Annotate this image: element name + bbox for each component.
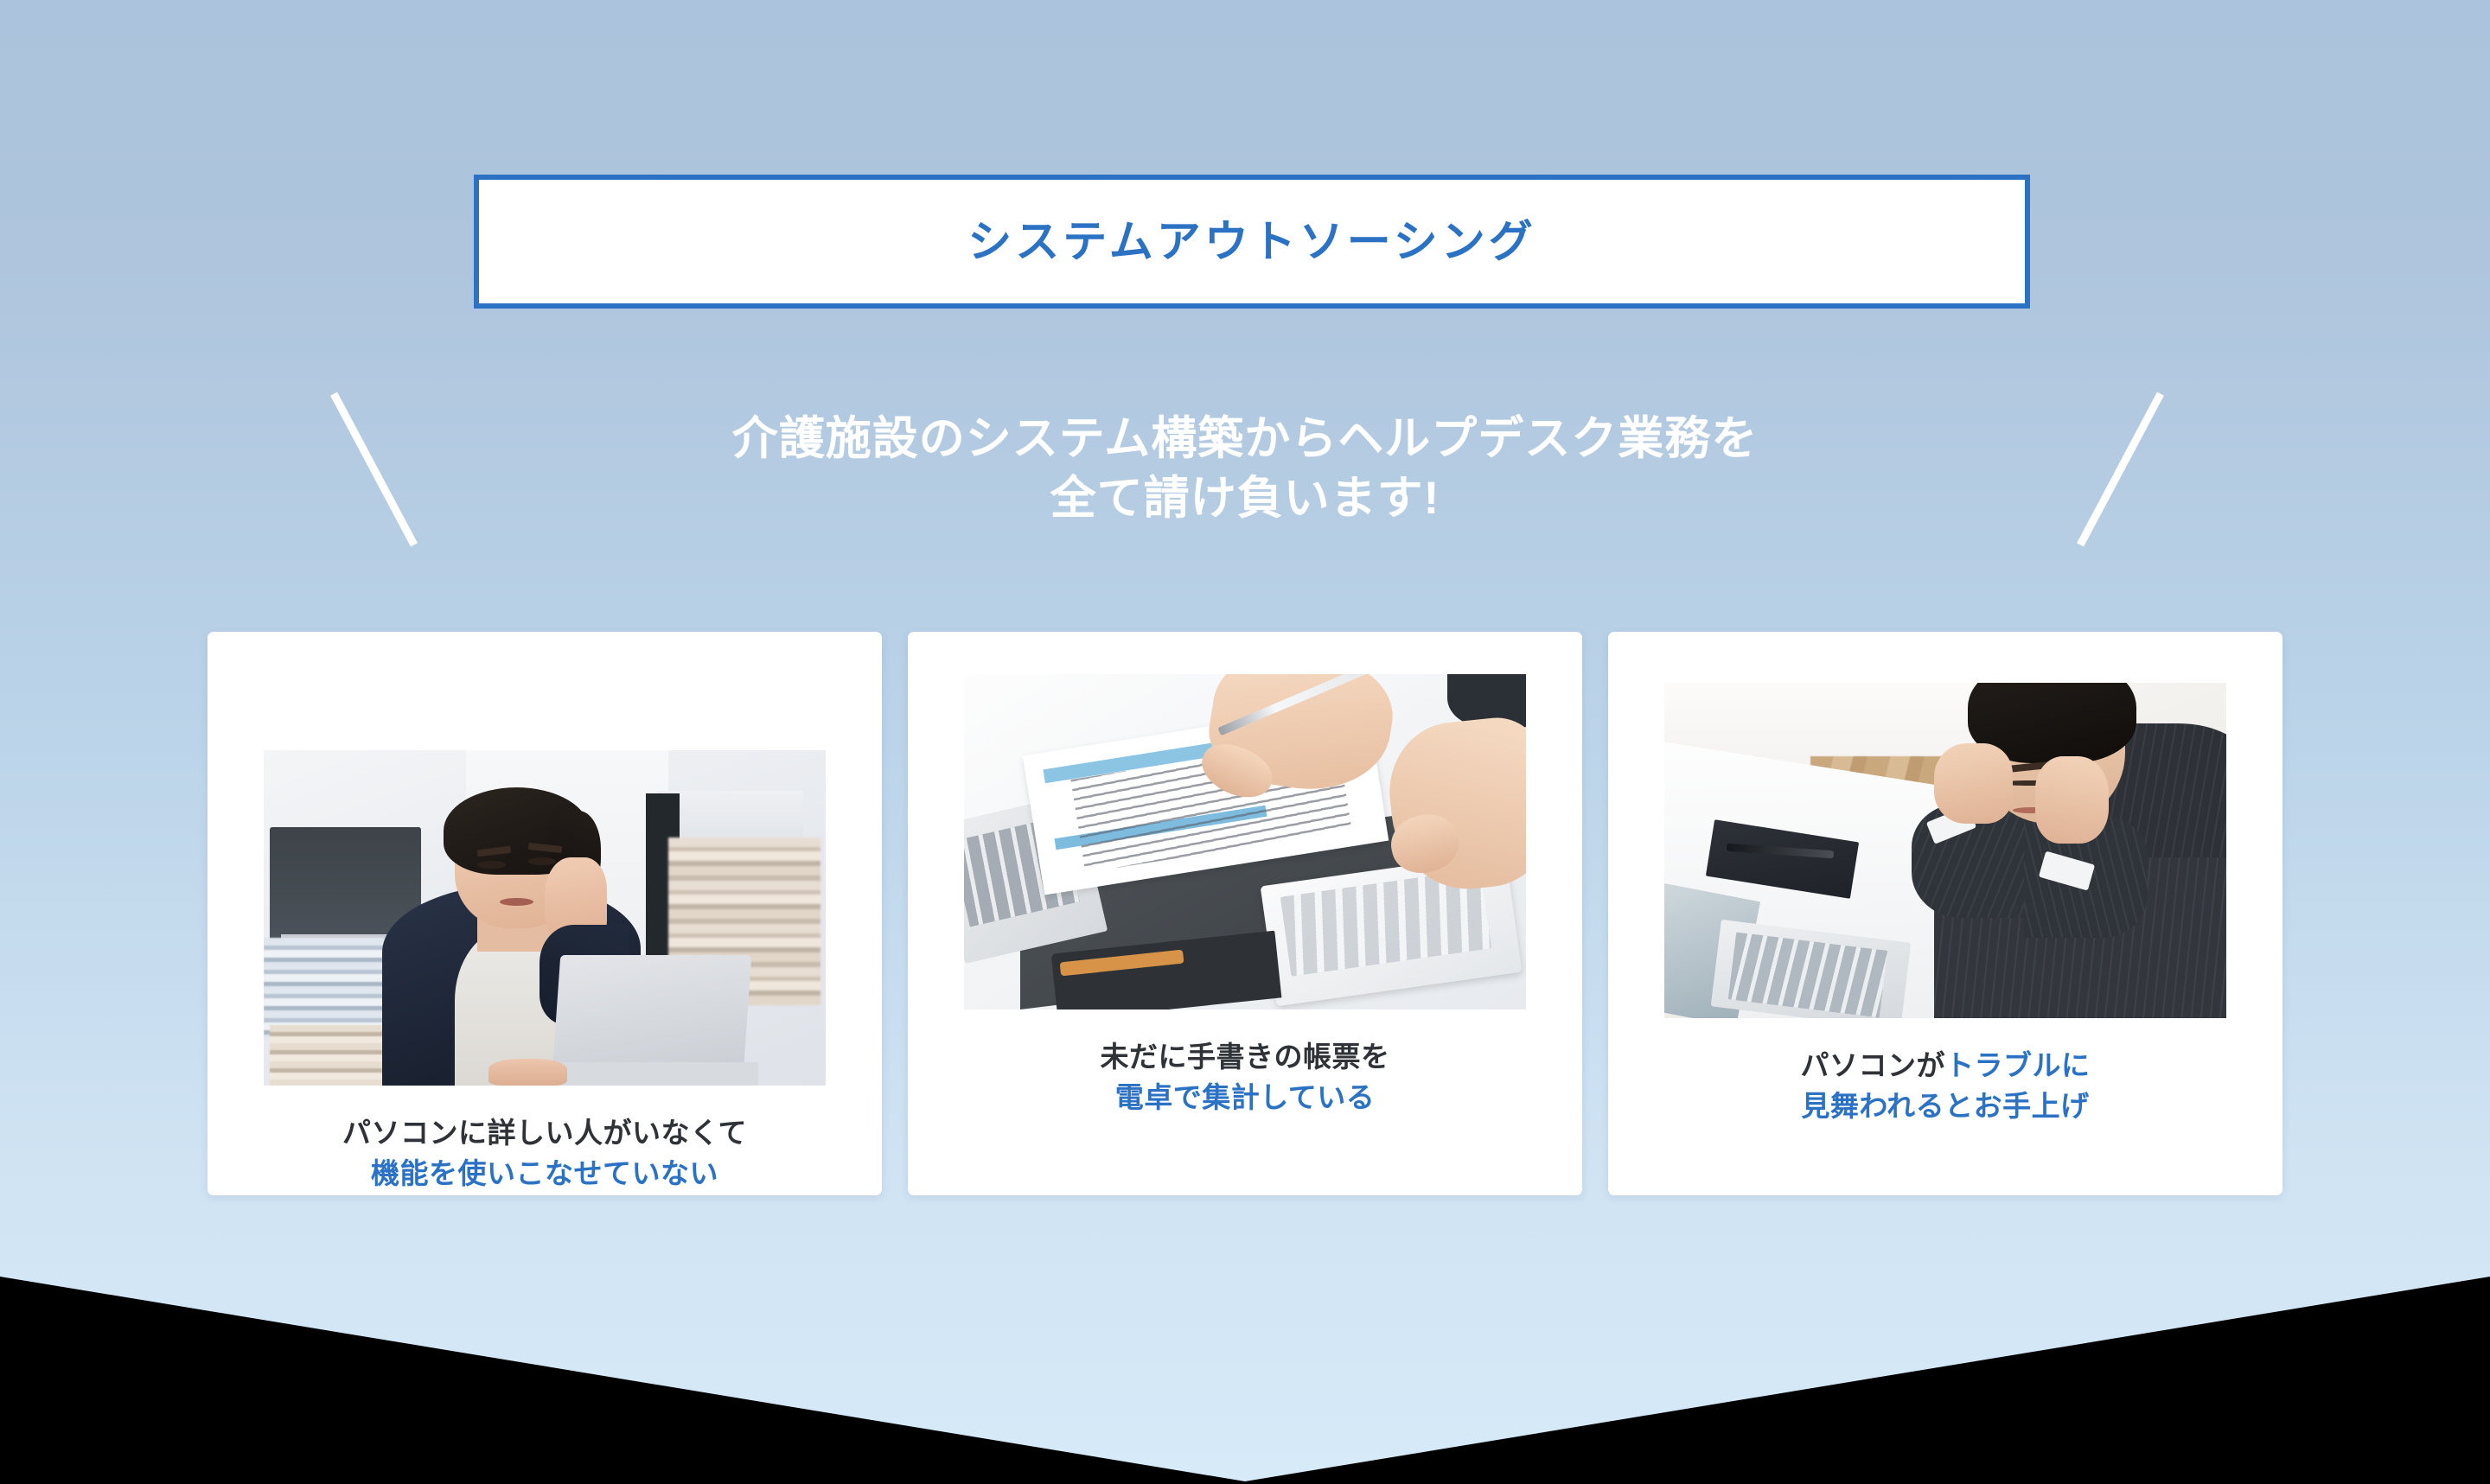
card-3-photo xyxy=(1664,683,2226,1018)
problem-cards-row: パソコンに詳しい人がいなくて 機能を使いこなせていない 未だに手書きの帳票を 電… xyxy=(207,632,2282,1195)
section-title: システムアウトソーシング xyxy=(967,220,1535,264)
card-1-line-2: 機能を使いこなせていない xyxy=(342,1154,747,1194)
card-3-line-1-blue: トラブルに xyxy=(1945,1049,2091,1081)
subtitle-line-2: 全て請け負います! xyxy=(732,469,1758,529)
card-2-caption: 未だに手書きの帳票を 電卓で集計している xyxy=(1101,1037,1390,1118)
card-3-line-1-dark: パソコンが xyxy=(1801,1049,1946,1081)
card-1-photo xyxy=(264,750,826,1086)
card-3-line-1: パソコンがトラブルに xyxy=(1801,1046,2091,1086)
problem-card-3[interactable]: パソコンがトラブルに 見舞われるとお手上げ xyxy=(1608,632,2282,1195)
card-2-line-1: 未だに手書きの帳票を xyxy=(1101,1037,1390,1078)
subtitle-block: 介護施設のシステム構築からヘルプデスク業務を 全て請け負います! xyxy=(0,372,2490,566)
card-1-line-1: パソコンに詳しい人がいなくて xyxy=(342,1113,747,1154)
problem-card-1[interactable]: パソコンに詳しい人がいなくて 機能を使いこなせていない xyxy=(207,632,882,1195)
subtitle-line-1: 介護施設のシステム構築からヘルプデスク業務を xyxy=(732,410,1758,469)
card-3-line-2: 見舞われるとお手上げ xyxy=(1801,1086,2091,1127)
section-title-box: システムアウトソーシング xyxy=(474,175,2030,309)
page-root: システムアウトソーシング 介護施設のシステム構築からヘルプデスク業務を 全て請け… xyxy=(0,0,2490,1484)
card-2-line-2: 電卓で集計している xyxy=(1101,1078,1390,1118)
card-3-caption: パソコンがトラブルに 見舞われるとお手上げ xyxy=(1801,1046,2091,1127)
card-2-photo xyxy=(964,674,1526,1010)
card-1-caption: パソコンに詳しい人がいなくて 機能を使いこなせていない xyxy=(342,1113,747,1194)
problem-card-2[interactable]: 未だに手書きの帳票を 電卓で集計している xyxy=(908,632,1582,1195)
